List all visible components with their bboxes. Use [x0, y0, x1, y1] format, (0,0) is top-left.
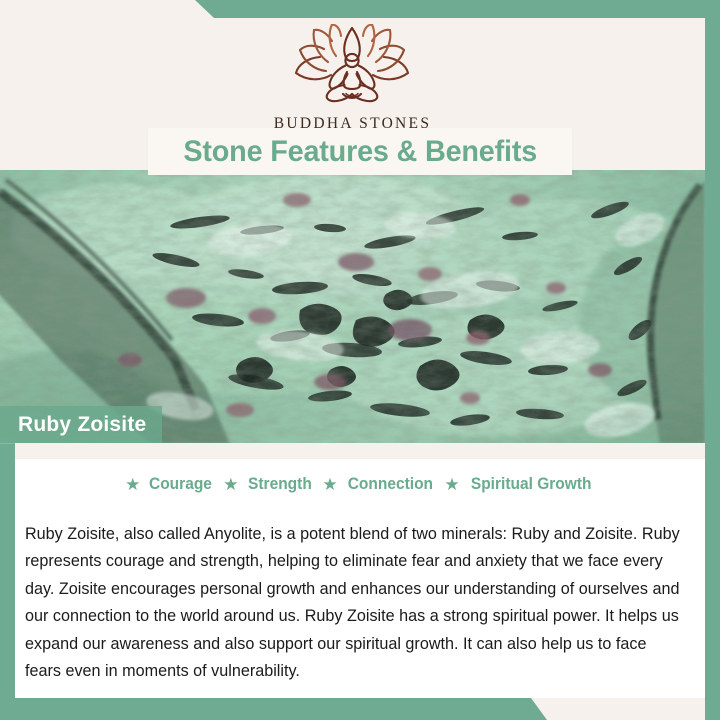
page-title: Stone Features & Benefits [183, 135, 537, 169]
stone-name-tag: Ruby Zoisite [0, 406, 162, 443]
page-title-ribbon: Stone Features & Benefits [148, 128, 572, 175]
benefit-item-courage: ★ Courage [125, 475, 214, 494]
star-icon: ★ [444, 476, 459, 493]
benefit-label: Strength [248, 475, 312, 494]
stone-name: Ruby Zoisite [18, 413, 146, 437]
benefit-label: Spiritual Growth [470, 475, 591, 494]
benefits-row: ★ Courage ★ Strength ★ Connection ★ Spir… [15, 475, 705, 494]
benefit-item-connection: ★ Connection [322, 475, 435, 494]
stone-description: Ruby Zoisite, also called Anyolite, is a… [25, 520, 686, 685]
stone-info-poster: BUDDHA STONES [0, 0, 720, 720]
decorative-band-top [0, 0, 720, 18]
brand-logo: BUDDHA STONES [274, 24, 432, 133]
star-icon: ★ [125, 476, 140, 493]
star-icon: ★ [322, 476, 337, 493]
content-top-strip [15, 443, 705, 459]
benefit-label: Courage [149, 475, 212, 494]
benefit-label: Connection [347, 475, 432, 494]
star-icon: ★ [223, 476, 238, 493]
lotus-meditation-icon [287, 24, 417, 111]
ruby-zoisite-stone-photo [0, 170, 705, 444]
decorative-band-right [705, 0, 720, 720]
decorative-band-bottom [0, 698, 720, 720]
benefit-item-spiritual-growth: ★ Spiritual Growth [444, 475, 595, 494]
content-card: ★ Courage ★ Strength ★ Connection ★ Spir… [15, 443, 705, 698]
benefit-item-strength: ★ Strength [223, 475, 313, 494]
